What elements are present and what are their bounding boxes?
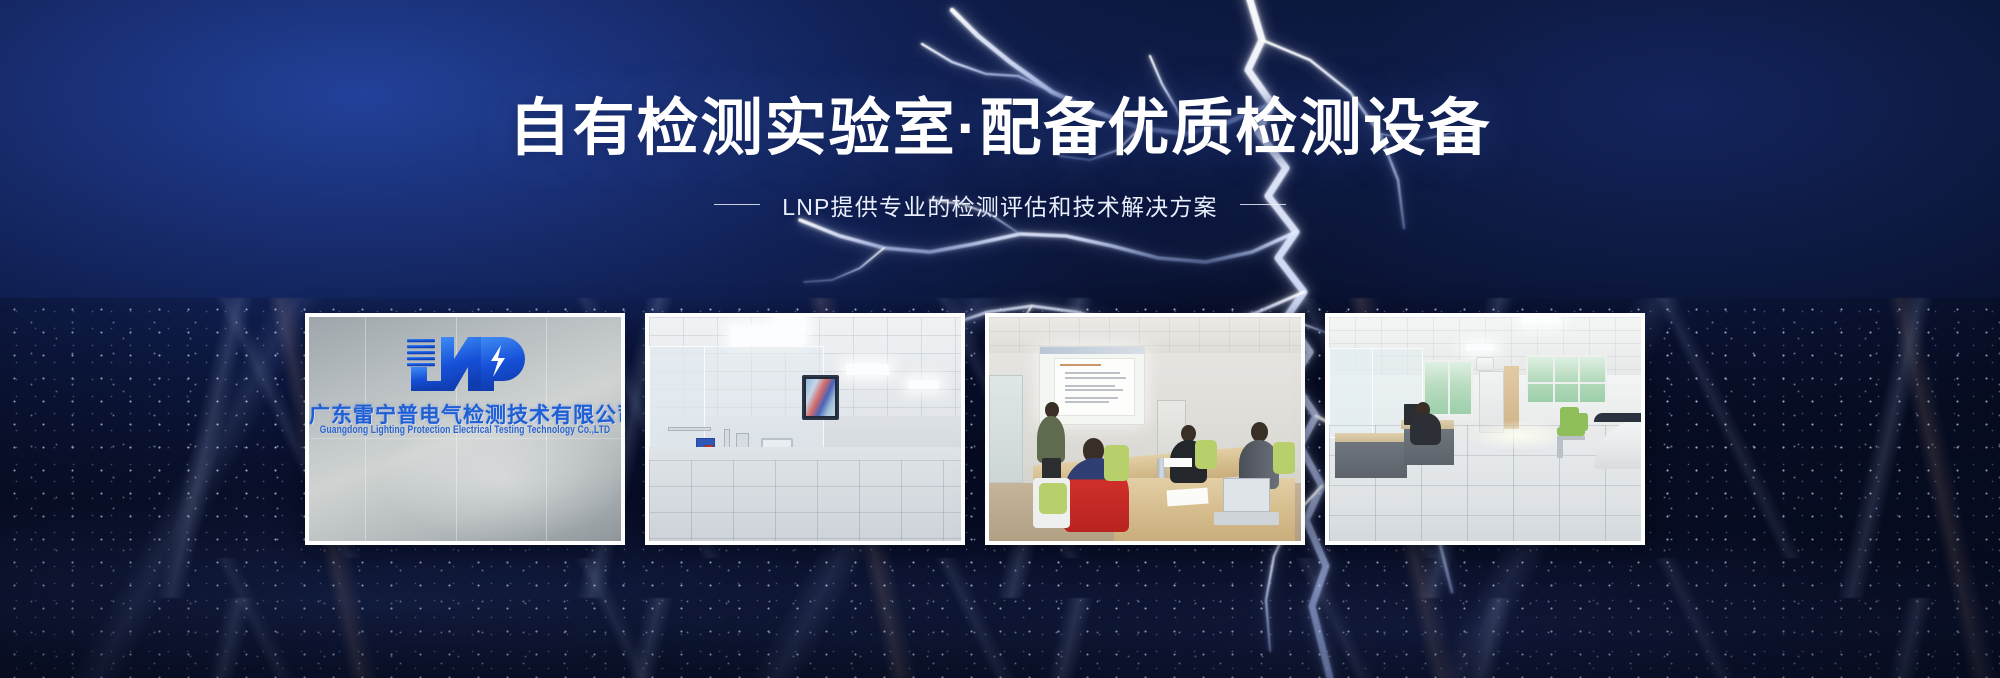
meeting-chair (1039, 483, 1067, 514)
photo-office-image (1329, 317, 1641, 541)
meeting-chair (1104, 445, 1129, 481)
photo-meeting-room[interactable] (985, 313, 1305, 545)
meeting-chair (1273, 442, 1295, 473)
hero-text-block: 自有检测实验室·配备优质检测设备 LNP提供专业的检测评估和技术解决方案 (0, 96, 2000, 222)
lab-ceiling-light (846, 364, 890, 375)
office-visitor-chair (1572, 413, 1588, 431)
hero-banner: 自有检测实验室·配备优质检测设备 LNP提供专业的检测评估和技术解决方案 (0, 0, 2000, 678)
rule-left-icon (714, 204, 760, 205)
hero-subtitle-row: LNP提供专业的检测评估和技术解决方案 (0, 188, 2000, 222)
laptop-screen (1223, 478, 1270, 512)
photo-company-signage-image: 广东雷宁普电气检测技术有限公司 Guangdong Lighting Prote… (309, 317, 621, 541)
lab-floor-grid (649, 460, 961, 541)
office-window (1423, 360, 1473, 416)
laptop-base (1214, 512, 1280, 525)
meeting-chair (1195, 440, 1217, 469)
lab-ceiling-light (908, 380, 939, 389)
office-ceiling-light (1466, 344, 1494, 351)
office-air-conditioner (1476, 357, 1495, 370)
photo-meeting-room-image (989, 317, 1301, 541)
hero-subtitle: LNP提供专业的检测评估和技术解决方案 (782, 188, 1218, 222)
meeting-door (989, 375, 1023, 483)
office-window (1526, 355, 1607, 404)
office-desk (1335, 433, 1413, 442)
signage-company-name-en: Guangdong Lighting Protection Electrical… (309, 423, 621, 436)
office-chair-frame (1557, 440, 1563, 458)
photo-gallery: 广东雷宁普电气检测技术有限公司 Guangdong Lighting Prote… (305, 313, 1645, 545)
office-desk-front (1335, 442, 1407, 478)
photo-testing-laboratory[interactable] (645, 313, 965, 545)
rule-right-icon (1240, 204, 1286, 205)
lnp-logo-icon (401, 333, 529, 395)
slide-title-bar (1040, 347, 1144, 354)
office-ceiling-light (1522, 317, 1559, 324)
page-title: 自有检测实验室·配备优质检测设备 (0, 96, 2000, 162)
lab-ceiling-light (730, 326, 805, 346)
documents (1164, 458, 1192, 467)
lab-tv-screen (806, 379, 835, 416)
photo-testing-laboratory-image (649, 317, 961, 541)
photo-office[interactable] (1325, 313, 1645, 545)
office-reception-counter-top (1594, 413, 1641, 422)
office-worker-body (1410, 413, 1441, 444)
photo-company-signage[interactable]: 广东雷宁普电气检测技术有限公司 Guangdong Lighting Prote… (305, 313, 625, 545)
presenter-body (1037, 416, 1065, 463)
lab-overhead-bus (668, 427, 712, 431)
slide-body (1054, 358, 1134, 416)
lab-ceiling-light (774, 317, 805, 326)
lab-wall-tv (802, 375, 839, 420)
meeting-ceiling-grid (989, 317, 1301, 353)
